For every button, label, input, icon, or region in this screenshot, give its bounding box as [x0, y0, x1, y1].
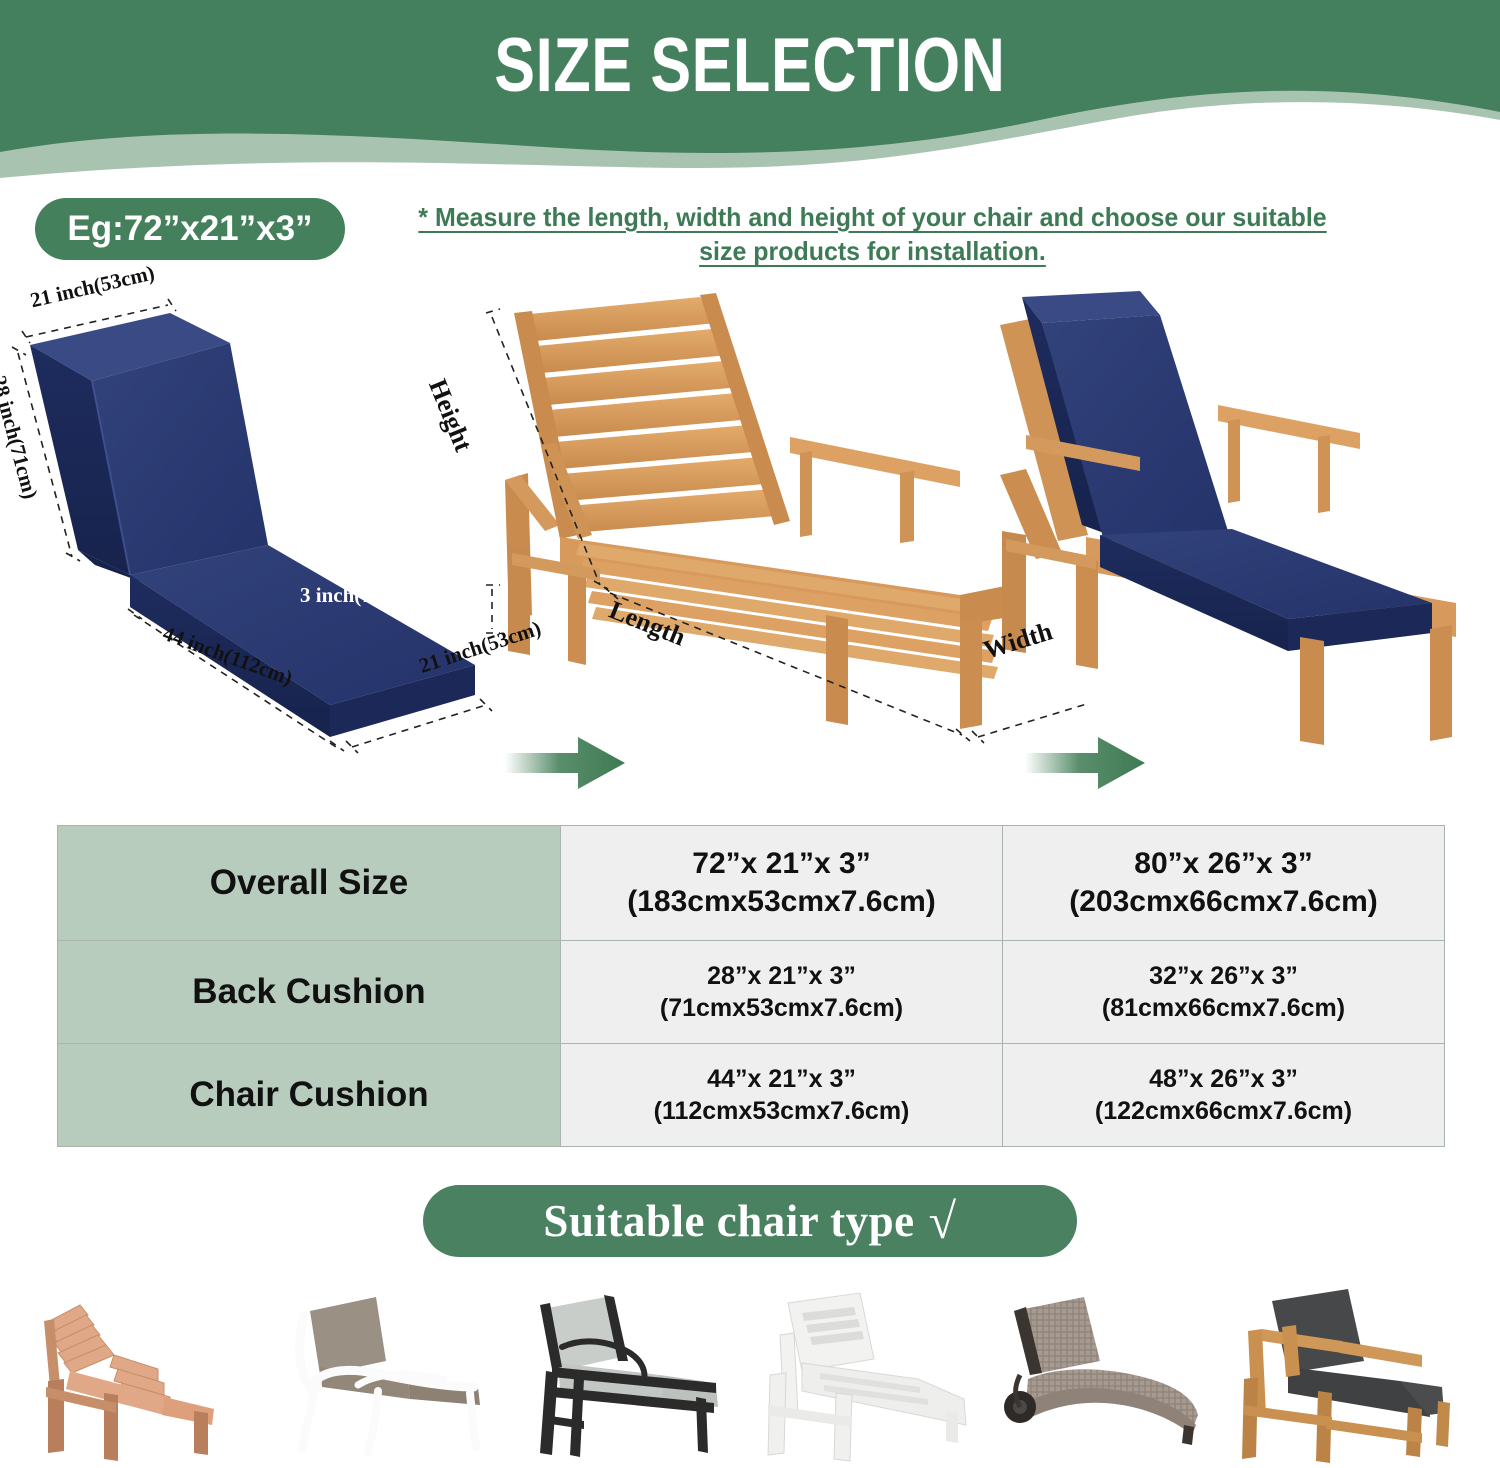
measure-instruction-note: * Measure the length, width and height o… — [395, 200, 1350, 268]
thumb-white-frame-sling-lounger — [258, 1275, 508, 1468]
illustration-graphics — [0, 285, 1500, 805]
cell-back-cushion-b: 32”x 26”x 3” (81cmx66cmx7.6cm) — [1003, 941, 1445, 1044]
table-row: Back Cushion 28”x 21”x 3” (71cmx53cmx7.6… — [58, 941, 1445, 1044]
value-inch: 44”x 21”x 3” — [569, 1063, 994, 1095]
table-row: Overall Size 72”x 21”x 3” (183cmx53cmx7.… — [58, 826, 1445, 941]
gray-wicker-lounger-icon — [980, 1275, 1230, 1468]
page-title: SIZE SELECTION — [150, 22, 1350, 109]
thumb-wood-frame-dark-sling — [1222, 1275, 1472, 1468]
value-cm: (71cmx53cmx7.6cm) — [569, 992, 994, 1024]
illustration-row: 21 inch(53cm) 28 inch(71cm) 44 inch(112c… — [0, 285, 1500, 805]
value-inch: 32”x 26”x 3” — [1011, 960, 1436, 992]
transition-arrow-1 — [505, 737, 625, 789]
cushion-thickness-label: 3 inch(7.6cm) — [300, 583, 421, 608]
black-frame-sling-lounger-icon — [500, 1275, 750, 1468]
thumb-gray-wicker-lounger — [980, 1275, 1230, 1468]
thumb-wooden-slat-lounger — [18, 1275, 268, 1468]
size-spec-table: Overall Size 72”x 21”x 3” (183cmx53cmx7.… — [57, 825, 1445, 1147]
value-inch: 28”x 21”x 3” — [569, 960, 994, 992]
value-cm: (112cmx53cmx7.6cm) — [569, 1095, 994, 1127]
white-plastic-lounger-icon — [740, 1275, 990, 1468]
suitable-chair-thumbnails — [0, 1275, 1500, 1468]
cell-overall-size-a: 72”x 21”x 3” (183cmx53cmx7.6cm) — [561, 826, 1003, 941]
value-inch: 48”x 26”x 3” — [1011, 1063, 1436, 1095]
value-cm: (183cmx53cmx7.6cm) — [569, 883, 994, 921]
row-label-chair-cushion: Chair Cushion — [58, 1044, 561, 1147]
chair-dimension-lines — [486, 309, 1090, 743]
suitable-chair-type-banner: Suitable chair type √ — [423, 1185, 1077, 1257]
check-mark-icon: √ — [929, 1192, 957, 1250]
wood-frame-dark-sling-icon — [1222, 1275, 1472, 1468]
row-label-back-cushion: Back Cushion — [58, 941, 561, 1044]
example-size-badge: Eg:72”x21”x3” — [35, 198, 345, 260]
table-row: Chair Cushion 44”x 21”x 3” (112cmx53cmx7… — [58, 1044, 1445, 1147]
row-label-overall-size: Overall Size — [58, 826, 561, 941]
page-header: SIZE SELECTION — [0, 0, 1500, 190]
thumb-white-plastic-lounger — [740, 1275, 990, 1468]
wooden-chaise-illustration — [505, 293, 1010, 729]
value-cm: (81cmx66cmx7.6cm) — [1011, 992, 1436, 1024]
transition-arrow-2 — [1025, 737, 1145, 789]
white-frame-sling-lounger-icon — [258, 1275, 508, 1468]
value-cm: (203cmx66cmx7.6cm) — [1011, 883, 1436, 921]
cell-back-cushion-a: 28”x 21”x 3” (71cmx53cmx7.6cm) — [561, 941, 1003, 1044]
cell-chair-cushion-b: 48”x 26”x 3” (122cmx66cmx7.6cm) — [1003, 1044, 1445, 1147]
value-inch: 72”x 21”x 3” — [569, 845, 994, 883]
cell-overall-size-b: 80”x 26”x 3” (203cmx66cmx7.6cm) — [1003, 826, 1445, 941]
value-inch: 80”x 26”x 3” — [1011, 845, 1436, 883]
wooden-slat-lounger-icon — [18, 1275, 268, 1468]
thumb-black-frame-sling-lounger — [500, 1275, 750, 1468]
suitable-chair-type-label: Suitable chair type — [543, 1195, 914, 1247]
value-cm: (122cmx66cmx7.6cm) — [1011, 1095, 1436, 1127]
chaise-with-cushion-illustration — [1000, 291, 1456, 745]
cell-chair-cushion-a: 44”x 21”x 3” (112cmx53cmx7.6cm) — [561, 1044, 1003, 1147]
